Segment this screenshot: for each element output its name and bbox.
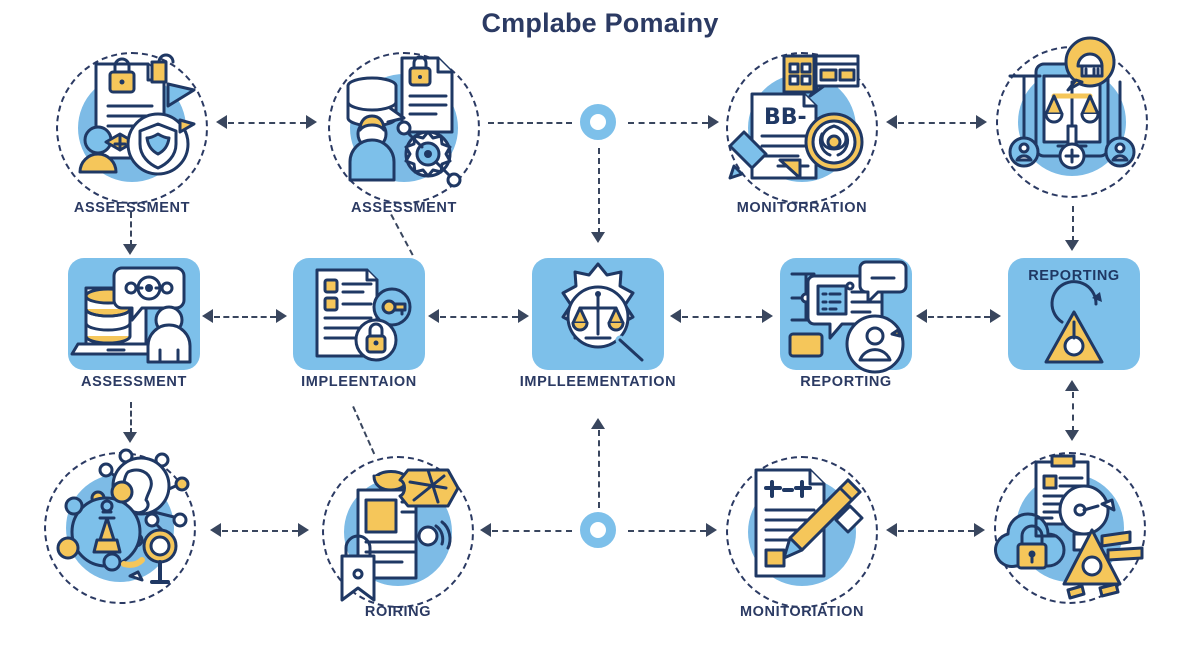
arrow-head-down [123,432,137,443]
connector-line [488,122,572,124]
scales-magnifier-badge-icon [532,258,664,370]
connector-line [222,530,298,532]
node-impleentaion-middle[interactable]: IMPLEENTAION [293,258,425,370]
svg-text:BB-: BB- [764,105,807,130]
arrow-head-up [591,418,605,429]
document-lock-shield-person-icon [52,48,212,208]
connector-line [228,122,306,124]
arrow-head-right [762,309,773,323]
connector-line [628,530,706,532]
connector-line [130,212,132,246]
node-clipboard-lock-bottom-right[interactable] [990,448,1150,608]
connector-line [628,122,708,124]
chat-flowchart-person-icon [780,258,912,370]
connector-line [492,530,572,532]
node-roiring-bottom[interactable]: ROIRING [318,452,478,612]
connector-line [1072,392,1074,432]
arrow-head-right [974,523,985,537]
arrow-head-left [670,309,681,323]
node-label: MONITORIATION [740,604,864,620]
node-tablet-scales-top-right[interactable] [992,42,1152,202]
arrow-head-left [210,523,221,537]
connector-line [130,402,132,434]
connector-line [440,316,518,318]
connector-line [352,406,375,454]
infographic-canvas: Cmplabe Pomainy [0,0,1200,654]
laptop-database-eye-person-icon [68,258,200,370]
connector-line [682,316,762,318]
arrow-head-left [202,309,213,323]
arrow-head-right [306,115,317,129]
network-chess-magnifier-map-icon [40,448,200,608]
arrow-head-right [990,309,1001,323]
node-inner-label: REPORTING [1028,268,1120,284]
connector-line [898,122,976,124]
node-monitorration-top[interactable]: BB- MONITORRATION [722,48,882,208]
arrow-head-down [591,232,605,243]
arrow-head-right [298,523,309,537]
arrow-head-right [708,115,719,129]
node-assessment-top[interactable]: ASSESSMENT [324,48,484,208]
arrow-head-down [1065,240,1079,251]
node-label: ASSESSMENT [351,200,457,216]
connector-line [598,430,600,508]
node-label: ASSESSMENT [81,374,187,390]
node-network-bottom-left[interactable] [40,448,200,608]
node-impllementation-center[interactable]: IMPLLEEMENTATION [532,258,664,370]
arrow-head-left [886,115,897,129]
arrow-head-down [1065,430,1079,441]
arrow-head-left [916,309,927,323]
connector-hub-bottom [580,512,616,548]
document-lock-bookmark-puzzle-icon [318,452,478,612]
arrow-head-right [276,309,287,323]
node-label: ROIRING [365,604,431,620]
node-label: IMPLEENTAION [301,374,417,390]
arrow-head-left [428,309,439,323]
arrow-head-left [886,523,897,537]
connector-line [1072,206,1074,242]
node-monitoriation-bottom[interactable]: MONITORIATION [722,452,882,612]
arrow-head-left [480,523,491,537]
document-pencil-icon [722,452,882,612]
clipboard-lock-warning-icon [990,448,1150,608]
arrow-head-up [1065,380,1079,391]
connector-hub-top [580,104,616,140]
tablet-scales-people-icon [992,42,1152,202]
node-label: IMPLLEEMENTATION [520,374,676,390]
arrow-head-right [518,309,529,323]
node-label: ASSEESSMENT [74,200,190,216]
node-label: MONITORRATION [737,200,868,216]
database-person-gear-document-icon [324,48,484,208]
connector-line [390,214,413,256]
node-reporting-middle[interactable]: REPORTING [780,258,912,370]
page-title: Cmplabe Pomainy [0,8,1200,39]
arrow-head-right [976,115,987,129]
node-label: REPORTING [800,374,892,390]
connector-line [898,530,974,532]
node-asseessment-top-left[interactable]: ASSEESSMENT [52,48,212,208]
arrow-head-left [216,115,227,129]
connector-line [598,148,600,234]
node-assessment-middle-left[interactable]: ASSESSMENT [68,258,200,370]
checklist-lock-key-icon [293,258,425,370]
connector-line [214,316,276,318]
connector-line [928,316,990,318]
node-reporting-middle-right[interactable]: REPORTING [1008,258,1140,370]
document-pencil-building-chart-icon: BB- [722,48,882,208]
arrow-head-down [123,244,137,255]
arrow-head-right [706,523,717,537]
